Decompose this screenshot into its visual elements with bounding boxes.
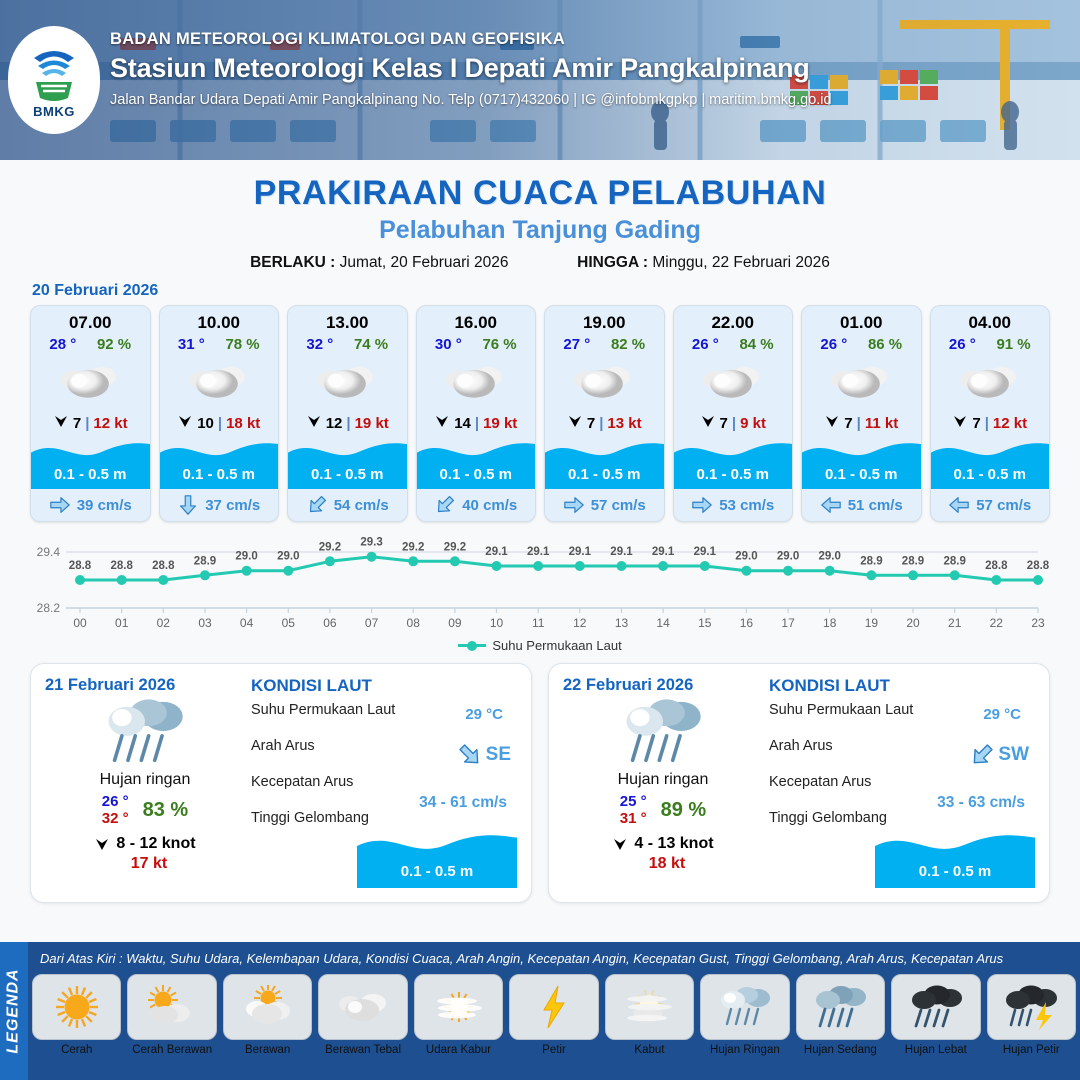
wind-direction-arrow-icon [567,413,583,429]
berawan-icon [444,362,508,402]
bmkg-logo: BMKG [8,26,100,134]
berawan-tebal-icon [337,987,389,1027]
svg-text:11: 11 [532,616,545,630]
card-weather-icon [288,353,407,411]
card-wind-separator: | [85,415,89,432]
svg-text:17: 17 [781,616,795,630]
berawan-icon [958,362,1022,402]
svg-text:29.4: 29.4 [37,545,61,559]
card-temperature: 27 ° [563,336,590,353]
card-wind-speed: 19 kt [483,415,517,432]
panel-sea-row-label: Tinggi Gelombang [251,810,517,826]
wind-direction-arrow-icon [824,413,840,429]
card-temperature: 26 ° [820,336,847,353]
panel-temp-min: 25 ° [620,793,647,810]
svg-text:29.0: 29.0 [819,551,841,563]
panel-temp-max: 31 ° [620,810,647,827]
card-wind-arrow [434,413,450,433]
legend-item-label: Hujan Ringan [710,1044,780,1056]
current-direction-east-icon [691,494,713,516]
card-wind-speed: 19 kt [355,415,389,432]
card-temperature: 28 ° [49,336,76,353]
bmkg-logo-text: BMKG [33,104,75,119]
svg-text:28.8: 28.8 [69,560,92,572]
berawan-icon [187,362,251,402]
legend-item: Kabut [605,974,694,1056]
chart-legend: Suhu Permukaan Laut [0,638,1080,653]
card-wind-arrow [306,413,322,433]
panel-wave-zone: 0.1 - 0.5 m [357,828,517,888]
legend-item: Hujan Lebat [891,974,980,1056]
svg-text:09: 09 [448,616,462,630]
cerah-icon [54,984,100,1030]
card-time: 01.00 [802,306,921,333]
legend-item: Udara Kabur [414,974,503,1056]
panel-gust: 17 kt [53,855,245,873]
wind-direction-arrow-icon [94,836,110,852]
card-wave-height: 0.1 - 0.5 m [802,466,921,483]
current-direction-east-icon [563,494,585,516]
card-wind-speed: 11 kt [865,415,898,432]
card-time: 13.00 [288,306,407,333]
wind-direction-arrow-icon [434,413,450,429]
panel-sea-row-label: Kecepatan Arus [769,774,1035,790]
panel-sea-row-label: Kecepatan Arus [251,774,517,790]
bmkg-emblem-icon [28,42,80,104]
svg-text:29.1: 29.1 [694,546,717,558]
forecast-card: 22.00 26 ° 84 % 7 | 9 kt 0.1 - 0.5 m [673,305,794,522]
legend-item: Cerah Berawan [127,974,216,1056]
svg-text:18: 18 [823,616,837,630]
card-humidity: 84 % [739,336,773,353]
header-text-block: BADAN METEOROLOGI KLIMATOLOGI DAN GEOFIS… [110,30,1060,108]
svg-text:14: 14 [656,616,670,630]
card-wave-zone: 0.1 - 0.5 m [160,437,279,489]
svg-text:28.8: 28.8 [111,560,134,572]
forecast-card: 10.00 31 ° 78 % 10 | 18 kt 0.1 - 0.5 m [159,305,280,522]
cerah-berawan-icon [146,985,198,1029]
legend-icon-list: Cerah Cerah Berawan Berawan Berawan Teba… [32,974,1076,1056]
svg-text:00: 00 [73,616,87,630]
wind-direction-arrow-icon [53,413,69,429]
kabut-icon [623,987,675,1027]
card-wind-separator: | [599,415,603,432]
svg-text:28.9: 28.9 [860,555,882,567]
svg-text:29.1: 29.1 [652,546,675,558]
card-wave-height: 0.1 - 0.5 m [417,466,536,483]
petir-icon [537,984,571,1030]
wind-direction-arrow-icon [700,413,716,429]
card-time: 16.00 [417,306,536,333]
svg-text:21: 21 [948,616,962,630]
svg-text:12: 12 [573,616,587,630]
card-wave-height: 0.1 - 0.5 m [160,466,279,483]
wind-direction-arrow-icon [177,413,193,429]
panel-current-direction: SW [969,742,1029,768]
forecast-card: 13.00 32 ° 74 % 12 | 19 kt 0.1 - 0.5 m [287,305,408,522]
svg-text:16: 16 [740,616,754,630]
panel-humidity: 83 % [143,799,189,822]
hujan-ringan-icon [718,984,772,1030]
title-section: PRAKIRAAN CUACA PELABUHAN Pelabuhan Tanj… [0,160,1080,272]
legend-icon-box [127,974,216,1040]
svg-text:08: 08 [407,616,421,630]
panel-humidity: 89 % [661,799,707,822]
card-wind-separator: | [732,415,736,432]
legend-item-label: Berawan [245,1044,290,1056]
card-current-speed: 51 cm/s [848,497,903,514]
svg-text:29.0: 29.0 [277,551,299,563]
daily-forecast-panels: 21 Februari 2026 Hujan ringan 26 ° 32 ° … [0,653,1080,903]
page-subtitle: Pelabuhan Tanjung Gading [0,216,1080,245]
legend-icon-box [32,974,121,1040]
card-wave-zone: 0.1 - 0.5 m [31,437,150,489]
card-weather-icon [31,353,150,411]
legend-item: Petir [509,974,598,1056]
card-current-speed: 53 cm/s [719,497,774,514]
panel-gust: 18 kt [571,855,763,873]
card-wave-height: 0.1 - 0.5 m [674,466,793,483]
berlaku-value: Jumat, 20 Februari 2026 [340,254,509,271]
current-direction-south-icon [177,494,199,516]
day-forecast-panel: 22 Februari 2026 Hujan ringan 25 ° 31 ° … [548,663,1050,903]
panel-wind-range: 8 - 12 knot [116,835,195,853]
hujan-ringan-icon [620,697,706,768]
card-weather-icon [674,353,793,411]
panel-current-speed: 33 - 63 cm/s [937,794,1025,812]
legend-item-label: Hujan Petir [1003,1044,1060,1056]
card-wind-direction: 14 [454,415,471,432]
card-wind-direction: 10 [197,415,214,432]
svg-text:29.0: 29.0 [735,551,757,563]
svg-text:23: 23 [1031,616,1045,630]
berawan-icon [572,362,636,402]
card-humidity: 76 % [482,336,516,353]
card-wind-direction: 7 [972,415,980,432]
card-wind-separator: | [475,415,479,432]
card-weather-icon [545,353,664,411]
card-humidity: 92 % [97,336,131,353]
card-weather-icon [160,353,279,411]
svg-text:29.3: 29.3 [360,537,382,549]
card-current-speed: 54 cm/s [334,497,389,514]
current-direction-east-icon [49,494,71,516]
svg-text:29.0: 29.0 [777,551,799,563]
current-direction-southwest-icon [301,489,332,520]
card-wind-separator: | [857,415,861,432]
station-name: Stasiun Meteorologi Kelas I Depati Amir … [110,53,1060,84]
legend-item-label: Hujan Lebat [905,1044,967,1056]
chart-legend-marker-icon [458,644,486,647]
current-direction-west-icon [820,494,842,516]
sst-chart-svg: 29.428.228.80028.80128.80228.90329.00429… [20,534,1060,634]
svg-text:05: 05 [282,616,296,630]
svg-text:04: 04 [240,616,254,630]
legend-icon-box [414,974,503,1040]
panel-sst-value: 29 °C [465,706,503,723]
card-temperature: 26 ° [692,336,719,353]
berawan-icon [315,362,379,402]
legend-item-label: Cerah Berawan [132,1044,212,1056]
card-wind-arrow [952,413,968,433]
card-wind-arrow [177,413,193,433]
page-header: BMKG BADAN METEOROLOGI KLIMATOLOGI DAN G… [0,0,1080,160]
panel-wave-zone: 0.1 - 0.5 m [875,828,1035,888]
legend-item-label: Cerah [61,1044,92,1056]
card-current-speed: 57 cm/s [976,497,1031,514]
sst-chart: 29.428.228.80028.80128.80228.90329.00429… [20,534,1060,634]
card-current-speed: 39 cm/s [77,497,132,514]
wind-direction-arrow-icon [306,413,322,429]
legend-icon-box [796,974,885,1040]
card-wind-speed: 18 kt [226,415,260,432]
svg-text:02: 02 [157,616,171,630]
chart-legend-label: Suhu Permukaan Laut [492,638,621,653]
card-temperature: 32 ° [306,336,333,353]
panel-condition: Hujan ringan [563,771,763,789]
card-wind-direction: 12 [326,415,343,432]
card-wind-arrow [567,413,583,433]
panel-sea-title: KONDISI LAUT [251,676,517,696]
card-time: 10.00 [160,306,279,333]
legend-item-label: Petir [542,1044,566,1056]
svg-text:28.9: 28.9 [944,555,966,567]
legend-item: Berawan Tebal [318,974,407,1056]
legend-item: Hujan Ringan [700,974,789,1056]
berlaku-label: BERLAKU : [250,254,335,271]
legend-item-label: Berawan Tebal [325,1044,401,1056]
berawan-icon [58,362,122,402]
card-time: 22.00 [674,306,793,333]
day1-date-label: 20 Februari 2026 [32,282,1080,300]
svg-text:29.1: 29.1 [569,546,592,558]
svg-text:10: 10 [490,616,504,630]
berawan-icon [829,362,893,402]
hujan-petir-icon [1004,984,1058,1030]
card-wind-separator: | [346,415,350,432]
legend-item-label: Hujan Sedang [804,1044,877,1056]
legend-item: Hujan Petir [987,974,1076,1056]
panel-wind-range: 4 - 13 knot [634,835,713,853]
berawan-icon [242,985,294,1029]
svg-text:22: 22 [990,616,1004,630]
wind-direction-arrow-icon [612,836,628,852]
card-wave-zone: 0.1 - 0.5 m [931,437,1050,489]
svg-text:01: 01 [115,616,129,630]
card-wind-separator: | [218,415,222,432]
panel-condition: Hujan ringan [45,771,245,789]
udara-kabur-icon [433,987,485,1027]
card-wave-zone: 0.1 - 0.5 m [288,437,407,489]
card-wind-direction: 7 [720,415,728,432]
legend-side-label: LEGENDA [0,942,28,1080]
card-humidity: 91 % [996,336,1030,353]
card-wind-speed: 12 kt [993,415,1027,432]
card-wind-direction: 7 [73,415,81,432]
card-weather-icon [931,353,1050,411]
svg-text:29.2: 29.2 [444,541,466,553]
current-direction-southwest-icon [430,489,461,520]
card-time: 04.00 [931,306,1050,333]
card-humidity: 78 % [225,336,259,353]
card-temperature: 30 ° [435,336,462,353]
legend-icon-box [700,974,789,1040]
panel-weather-icon [45,693,245,771]
forecast-card: 07.00 28 ° 92 % 7 | 12 kt 0.1 - 0.5 m [30,305,151,522]
card-wind-arrow [53,413,69,433]
card-wind-arrow [700,413,716,433]
svg-text:29.1: 29.1 [527,546,550,558]
panel-wave-height: 0.1 - 0.5 m [875,863,1035,880]
card-humidity: 86 % [868,336,902,353]
panel-temp-max: 32 ° [102,810,129,827]
card-wind-direction: 7 [587,415,595,432]
card-wind-speed: 9 kt [740,415,766,432]
hujan-lebat-icon [909,984,963,1030]
panel-current-direction: SE [457,742,511,768]
legend-item: Hujan Sedang [796,974,885,1056]
card-wave-height: 0.1 - 0.5 m [931,466,1050,483]
page-title: PRAKIRAAN CUACA PELABUHAN [0,174,1080,213]
card-time: 07.00 [31,306,150,333]
panel-wave-height: 0.1 - 0.5 m [357,863,517,880]
card-temperature: 26 ° [949,336,976,353]
berawan-icon [701,362,765,402]
legend-icon-box [605,974,694,1040]
current-direction-southwest-icon [964,737,1001,774]
current-direction-southeast-icon [451,737,488,774]
forecast-card: 01.00 26 ° 86 % 7 | 11 kt 0.1 - 0.5 m [801,305,922,522]
wind-direction-arrow-icon [952,413,968,429]
card-wind-speed: 13 kt [607,415,641,432]
legend-side-text: LEGENDA [5,968,23,1053]
card-wave-height: 0.1 - 0.5 m [288,466,407,483]
hingga-label: HINGGA : [577,254,648,271]
svg-text:28.8: 28.8 [1027,560,1050,572]
validity-row: BERLAKU : Jumat, 20 Februari 2026 HINGGA… [0,254,1080,272]
panel-temp-min: 26 ° [102,793,129,810]
card-current-speed: 37 cm/s [205,497,260,514]
svg-text:07: 07 [365,616,379,630]
hingga-value: Minggu, 22 Februari 2026 [652,254,830,271]
svg-text:28.9: 28.9 [194,555,216,567]
hujan-sedang-icon [813,984,867,1030]
panel-current-speed: 34 - 61 cm/s [419,794,507,812]
card-wave-zone: 0.1 - 0.5 m [417,437,536,489]
svg-text:03: 03 [198,616,212,630]
panel-sea-title: KONDISI LAUT [769,676,1035,696]
svg-text:06: 06 [323,616,337,630]
svg-text:13: 13 [615,616,629,630]
svg-text:15: 15 [698,616,712,630]
card-wave-height: 0.1 - 0.5 m [31,466,150,483]
card-weather-icon [417,353,536,411]
legend-icon-box [891,974,980,1040]
legend-item-label: Udara Kabur [426,1044,491,1056]
legend-icon-box [223,974,312,1040]
hourly-forecast-cards: 07.00 28 ° 92 % 7 | 12 kt 0.1 - 0.5 m [0,305,1080,522]
legend-item: Berawan [223,974,312,1056]
svg-text:29.2: 29.2 [402,541,424,553]
svg-text:28.8: 28.8 [985,560,1008,572]
svg-text:29.1: 29.1 [485,546,508,558]
legend-item: Cerah [32,974,121,1056]
svg-text:19: 19 [865,616,879,630]
legend-item-label: Kabut [634,1044,664,1056]
svg-text:20: 20 [906,616,920,630]
card-wave-zone: 0.1 - 0.5 m [674,437,793,489]
card-weather-icon [802,353,921,411]
card-wind-arrow [824,413,840,433]
svg-text:28.8: 28.8 [152,560,175,572]
agency-name: BADAN METEOROLOGI KLIMATOLOGI DAN GEOFIS… [110,30,1060,49]
panel-weather-icon [563,693,763,771]
station-contact: Jalan Bandar Udara Depati Amir Pangkalpi… [110,92,1060,108]
legend-bar: LEGENDA Dari Atas Kiri : Waktu, Suhu Uda… [0,942,1080,1080]
card-wave-zone: 0.1 - 0.5 m [545,437,664,489]
hujan-ringan-icon [102,697,188,768]
card-wind-separator: | [985,415,989,432]
card-wind-speed: 12 kt [93,415,127,432]
legend-caption: Dari Atas Kiri : Waktu, Suhu Udara, Kele… [40,951,1003,966]
svg-text:29.1: 29.1 [610,546,633,558]
card-humidity: 82 % [611,336,645,353]
card-wave-zone: 0.1 - 0.5 m [802,437,921,489]
card-wind-direction: 7 [844,415,852,432]
svg-text:28.2: 28.2 [37,601,61,615]
card-time: 19.00 [545,306,664,333]
panel-sea-row-label: Tinggi Gelombang [769,810,1035,826]
current-direction-west-icon [948,494,970,516]
forecast-card: 04.00 26 ° 91 % 7 | 12 kt 0.1 - 0.5 m [930,305,1051,522]
forecast-card: 19.00 27 ° 82 % 7 | 13 kt 0.1 - 0.5 m [544,305,665,522]
svg-text:29.0: 29.0 [235,551,257,563]
forecast-card: 16.00 30 ° 76 % 14 | 19 kt 0.1 - 0.5 m [416,305,537,522]
panel-sst-value: 29 °C [983,706,1021,723]
svg-text:29.2: 29.2 [319,541,341,553]
card-humidity: 74 % [354,336,388,353]
card-wave-height: 0.1 - 0.5 m [545,466,664,483]
card-temperature: 31 ° [178,336,205,353]
card-current-speed: 40 cm/s [462,497,517,514]
legend-icon-box [987,974,1076,1040]
legend-icon-box [509,974,598,1040]
card-current-speed: 57 cm/s [591,497,646,514]
legend-icon-box [318,974,407,1040]
day-forecast-panel: 21 Februari 2026 Hujan ringan 26 ° 32 ° … [30,663,532,903]
svg-text:28.9: 28.9 [902,555,924,567]
